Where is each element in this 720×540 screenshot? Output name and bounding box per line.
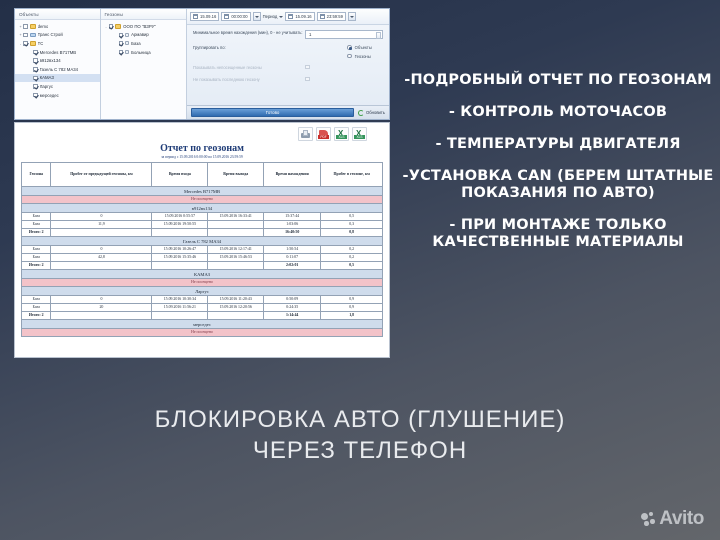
report-column-header: Геозона (22, 163, 51, 187)
geozone-tree-item[interactable]: Армавир (101, 31, 186, 40)
hide-last-setting-row: Не показывать последнюю геозону (193, 77, 383, 83)
min-stay-label: Минимальное время нахождения (мин), 0 - … (193, 30, 305, 36)
report-data-row: База2015.09.2016 11:56:2115.09.2016 12:2… (22, 304, 383, 312)
objects-panel: Объекты +demo+Транс Строй-ТСMercedes B71… (15, 9, 101, 119)
report-total-cell-exit (208, 312, 264, 320)
radio-option-objects[interactable]: Объекты (347, 45, 372, 50)
report-cell-zone: База (22, 246, 51, 254)
report-total-cell-zone: Итого: 2 (22, 262, 51, 270)
report-total-cell-duration: 16:40:50 (264, 229, 321, 237)
promo-bullet-list: -ПОДРОБНЫЙ ОТЧЕТ ПО ГЕОЗОНАМ- КОНТРОЛЬ М… (400, 72, 716, 251)
report-cell-mileage-in: 0,5 (321, 213, 383, 221)
report-cell-mileage-prev: 0 (51, 296, 152, 304)
report-column-header: Пробег в геозоне, км (321, 163, 383, 187)
geozone-report-window: X X Отчет по геозонам за период с 15.09.… (14, 122, 390, 358)
checkbox-icon[interactable] (23, 33, 28, 38)
radio-icon (347, 54, 352, 59)
report-total-cell-mileage-prev (51, 312, 152, 320)
promo-bullet: - ТЕМПЕРАТУРЫ ДВИГАТЕЛЯ (400, 136, 716, 153)
report-group-row: в912вх134 (22, 204, 383, 213)
report-cell-zone: База (22, 213, 51, 221)
date-to-field[interactable]: 15.09.16 (285, 12, 314, 21)
report-cell-mileage-prev: 11,9 (51, 221, 152, 229)
object-tree-item-label: Транс Строй (38, 32, 63, 37)
report-cell-mileage-prev: 20 (51, 304, 152, 312)
date-range-toolbar: 15.09.16 00:00:00 Период 15.09.16 23:59:… (187, 9, 389, 25)
folder-blue-icon (30, 33, 36, 38)
report-total-cell-exit (208, 262, 264, 270)
promo-bullet: - КОНТРОЛЬ МОТОЧАСОВ (400, 104, 716, 121)
print-icon[interactable] (298, 127, 313, 141)
object-tree-item-label: Ларгус (40, 84, 53, 89)
refresh-button-label: Обновить (366, 110, 385, 115)
checkbox-icon[interactable] (33, 93, 38, 98)
report-no-visit-row: Не посещено (22, 329, 383, 337)
export-toolbar: X X (21, 127, 383, 141)
object-tree-item-label: demo (38, 24, 49, 29)
radio-option-geozones[interactable]: Геозоны (347, 54, 372, 59)
geozone-report-table: ГеозонаПробег от предыдущей геозоны, кмВ… (21, 162, 383, 337)
object-tree-item-label: Mercedes B717MB (40, 50, 77, 55)
object-tree-item[interactable]: Mercedes B717MB (15, 48, 100, 57)
objects-panel-header: Объекты (15, 9, 100, 20)
report-group-row: мерседес (22, 320, 383, 329)
avito-logo-icon (641, 512, 656, 526)
group-by-label: Группировать по: (193, 45, 305, 51)
geozone-icon (125, 50, 129, 54)
report-cell-enter: 15.09.2016 15:35:46 (152, 254, 208, 262)
report-total-row: Итого: 22:02:010,5 (22, 262, 383, 270)
report-total-row: Итого: 216:40:500,8 (22, 229, 383, 237)
geozone-tree-item[interactable]: -ООО ПО "ВЗРУ" (101, 22, 186, 31)
calendar-icon (193, 14, 198, 19)
geozone-tree-item-label: Армавир (131, 32, 149, 37)
object-tree-item[interactable]: Ларгус (15, 82, 100, 91)
min-stay-setting-row: Минимальное время нахождения (мин), 0 - … (193, 30, 383, 39)
report-total-cell-duration: 1:14:44 (264, 312, 321, 320)
group-by-radio-group: Объекты Геозоны (347, 45, 372, 59)
report-group-name: КАМАЗ (22, 270, 383, 279)
object-tree-item[interactable]: Газель С 782 МА34 (15, 65, 100, 74)
report-total-cell-mileage-prev (51, 262, 152, 270)
clock-icon (320, 14, 325, 19)
object-tree-item[interactable]: мерседес (15, 91, 100, 100)
report-cell-enter: 15.09.2016 19:50:55 (152, 221, 208, 229)
object-tree-item-label: Газель С 782 МА34 (40, 67, 78, 72)
checkbox-icon[interactable] (33, 67, 38, 72)
checkbox-icon[interactable] (119, 41, 124, 46)
report-cell-mileage-in: 0,2 (321, 254, 383, 262)
refresh-icon (358, 110, 364, 116)
report-header-row: ГеозонаПробег от предыдущей геозоны, кмВ… (22, 163, 383, 187)
report-cell-zone: База (22, 221, 51, 229)
object-tree-item[interactable]: в912вх134 (15, 56, 100, 65)
report-cell-zone: База (22, 254, 51, 262)
checkbox-icon[interactable] (33, 50, 38, 55)
min-stay-stepper[interactable]: 1 (305, 30, 383, 39)
report-column-header: Время нахождения (264, 163, 321, 187)
period-selector[interactable]: Период (263, 14, 284, 19)
report-group-name: Mercedes B717MB (22, 187, 383, 196)
refresh-button[interactable]: Обновить (358, 110, 385, 116)
excel-x-glyph: X (356, 129, 361, 138)
report-total-cell-zone: Итого: 2 (22, 312, 51, 320)
report-total-cell-enter (152, 312, 208, 320)
clock-icon (224, 14, 229, 19)
checkbox-icon[interactable] (23, 24, 28, 29)
folder-icon (30, 24, 36, 29)
report-column-header: Время выхода (208, 163, 264, 187)
excel-x-glyph: X (338, 129, 343, 138)
radio-option-geozones-label: Геозоны (355, 54, 371, 59)
report-cell-mileage-in: 0,9 (321, 296, 383, 304)
settings-body: Минимальное время нахождения (мин), 0 - … (187, 25, 389, 105)
xlsx-export-icon[interactable]: X (352, 127, 367, 141)
report-subtitle: за период с 15.09.2016 0:00:00 по 15.09.… (21, 155, 383, 159)
date-from-value: 15.09.16 (200, 14, 216, 19)
report-cell-duration: 0:24:35 (264, 304, 321, 312)
report-total-cell-enter (152, 229, 208, 237)
time-to-value: 23:59:59 (327, 14, 343, 19)
xls-export-icon[interactable]: X (334, 127, 349, 141)
report-no-visit-text: Не посещено (22, 329, 383, 337)
report-column-header: Время входа (152, 163, 208, 187)
app-footer: Готово Обновить (187, 105, 389, 119)
checkbox-icon[interactable] (33, 84, 38, 89)
chevron-down-icon (279, 16, 283, 18)
report-no-visit-text: Не посещено (22, 196, 383, 204)
geozone-tree-item-label: ООО ПО "ВЗРУ" (123, 24, 156, 29)
report-group-row: КАМАЗ (22, 270, 383, 279)
report-total-cell-mileage-in: 1,8 (321, 312, 383, 320)
report-column-header: Пробег от предыдущей геозоны, км (51, 163, 152, 187)
geozone-tree-item[interactable]: Больница (101, 48, 186, 57)
checkbox-icon[interactable] (33, 58, 38, 63)
report-total-cell-zone: Итого: 2 (22, 229, 51, 237)
report-no-visit-row: Не посещено (22, 279, 383, 287)
object-tree-item[interactable]: -ТС (15, 39, 100, 48)
report-cell-mileage-prev: 42,8 (51, 254, 152, 262)
gps-tracking-app-window: Объекты +demo+Транс Строй-ТСMercedes B71… (14, 8, 390, 120)
time-to-dropdown-button[interactable] (348, 12, 356, 21)
report-cell-mileage-prev: 0 (51, 246, 152, 254)
folder-icon (115, 24, 121, 29)
report-cell-enter: 15.09.2016 11:56:21 (152, 304, 208, 312)
radio-option-objects-label: Объекты (355, 45, 372, 50)
report-data-row: База015.09.2016 10:30:3415.09.2016 11:20… (22, 296, 383, 304)
geozone-icon (125, 41, 129, 45)
report-data-row: База11,915.09.2016 19:50:551:03:060,3 (22, 221, 383, 229)
report-table-head: ГеозонаПробег от предыдущей геозоны, кмВ… (22, 163, 383, 187)
geozones-panel: Геозоны -ООО ПО "ВЗРУ"АрмавирБазаБольниц… (101, 9, 187, 119)
report-group-row: Mercedes B717MB (22, 187, 383, 196)
avito-watermark-label: Avito (659, 508, 704, 530)
checkbox-icon[interactable] (109, 24, 114, 29)
time-from-field[interactable]: 00:00:00 (221, 12, 250, 21)
report-cell-zone: База (22, 304, 51, 312)
report-total-cell-enter (152, 262, 208, 270)
checkbox-icon[interactable] (119, 50, 124, 55)
report-data-row: База42,815.09.2016 15:35:4615.09.2016 15… (22, 254, 383, 262)
stepper-arrows-icon[interactable] (376, 32, 381, 39)
group-by-setting-row: Группировать по: Объекты Геозоны (193, 45, 383, 59)
report-cell-exit: 15.09.2016 12:20:56 (208, 304, 264, 312)
report-cell-exit: 15.09.2016 16:33:41 (208, 213, 264, 221)
date-to-value: 15.09.16 (295, 14, 311, 19)
geozone-icon (125, 33, 129, 37)
report-group-name: в912вх134 (22, 204, 383, 213)
report-cell-enter: 15.09.2016 10:30:34 (152, 296, 208, 304)
report-group-row: Ларгус (22, 287, 383, 296)
date-from-field[interactable]: 15.09.16 (190, 12, 219, 21)
object-tree-item[interactable]: КАМАЗ (15, 74, 100, 83)
promo-caption-line-2: ЧЕРЕЗ ТЕЛЕФОН (60, 435, 660, 466)
period-label: Период (263, 14, 278, 19)
chevron-down-icon (255, 16, 259, 18)
promo-bullet: - ПРИ МОНТАЖЕ ТОЛЬКО КАЧЕСТВЕННЫЕ МАТЕРИ… (400, 217, 716, 251)
report-group-name: мерседес (22, 320, 383, 329)
time-from-dropdown-button[interactable] (253, 12, 261, 21)
report-data-row: База015.09.2016 0:55:5715.09.2016 16:33:… (22, 213, 383, 221)
report-table-body: Mercedes B717MBНе посещенов912вх134База0… (22, 187, 383, 337)
hide-last-checkbox[interactable] (305, 77, 310, 82)
report-total-cell-mileage-in: 0,5 (321, 262, 383, 270)
folder-icon (30, 41, 36, 46)
object-tree-item-label: КАМАЗ (40, 75, 54, 80)
object-tree-item-label: мерседес (40, 93, 59, 98)
show-unvisited-checkbox[interactable] (305, 65, 310, 70)
geozones-panel-header: Геозоны (101, 9, 186, 20)
radio-icon (347, 45, 352, 50)
geozone-tree-item-label: База (131, 41, 141, 46)
report-cell-duration: 1:50:54 (264, 246, 321, 254)
avito-watermark: Avito (641, 508, 704, 530)
show-unvisited-label: Показывать непосещенные геозоны (193, 65, 305, 71)
objects-tree[interactable]: +demo+Транс Строй-ТСMercedes B717MBв912в… (15, 20, 100, 119)
hide-last-label: Не показывать последнюю геозону (193, 77, 305, 83)
done-button[interactable]: Готово (191, 108, 354, 117)
report-cell-duration: 15:37:44 (264, 213, 321, 221)
report-cell-duration: 0:11:07 (264, 254, 321, 262)
report-total-row: Итого: 21:14:441,8 (22, 312, 383, 320)
report-cell-mileage-in: 0,9 (321, 304, 383, 312)
object-tree-item[interactable]: +demo (15, 22, 100, 31)
report-cell-mileage-in: 0,2 (321, 246, 383, 254)
report-title: Отчет по геозонам (21, 143, 383, 154)
report-cell-mileage-in: 0,3 (321, 221, 383, 229)
promo-bullet: -УСТАНОВКА CAN (БЕРЕМ ШТАТНЫЕ ПОКАЗАНИЯ … (400, 168, 716, 202)
report-cell-duration: 1:03:06 (264, 221, 321, 229)
report-group-name: Газель С 782 МА34 (22, 237, 383, 246)
report-cell-exit: 15.09.2016 12:17:41 (208, 246, 264, 254)
report-cell-exit: 15.09.2016 15:46:53 (208, 254, 264, 262)
report-cell-duration: 0:50:09 (264, 296, 321, 304)
object-tree-item[interactable]: +Транс Строй (15, 31, 100, 40)
report-cell-exit (208, 221, 264, 229)
show-unvisited-setting-row: Показывать непосещенные геозоны (193, 65, 383, 71)
geozones-tree[interactable]: -ООО ПО "ВЗРУ"АрмавирБазаБольница (101, 20, 186, 119)
pdf-export-icon[interactable] (316, 127, 331, 141)
report-total-cell-duration: 2:02:01 (264, 262, 321, 270)
report-cell-enter: 15.09.2016 0:55:57 (152, 213, 208, 221)
report-total-cell-mileage-prev (51, 229, 152, 237)
geozone-tree-item-label: Больница (131, 50, 151, 55)
report-group-row: Газель С 782 МА34 (22, 237, 383, 246)
time-to-field[interactable]: 23:59:59 (317, 12, 346, 21)
chevron-down-icon (350, 16, 354, 18)
promo-bullet: -ПОДРОБНЫЙ ОТЧЕТ ПО ГЕОЗОНАМ (400, 72, 716, 89)
report-total-cell-mileage-in: 0,8 (321, 229, 383, 237)
report-no-visit-text: Не посещено (22, 279, 383, 287)
report-cell-mileage-prev: 0 (51, 213, 152, 221)
checkbox-icon[interactable] (119, 33, 124, 38)
geozone-tree-item[interactable]: База (101, 39, 186, 48)
checkbox-icon[interactable] (33, 76, 38, 81)
report-cell-enter: 15.09.2016 10:26:47 (152, 246, 208, 254)
calendar-icon (288, 14, 293, 19)
report-data-row: База015.09.2016 10:26:4715.09.2016 12:17… (22, 246, 383, 254)
report-cell-zone: База (22, 296, 51, 304)
time-from-value: 00:00:00 (231, 14, 247, 19)
report-group-name: Ларгус (22, 287, 383, 296)
report-no-visit-row: Не посещено (22, 196, 383, 204)
checkbox-icon[interactable] (23, 41, 28, 46)
report-settings-panel: 15.09.16 00:00:00 Период 15.09.16 23:59:… (187, 9, 389, 119)
report-cell-exit: 15.09.2016 11:20:43 (208, 296, 264, 304)
promo-caption-line-1: БЛОКИРОВКА АВТО (ГЛУШЕНИЕ) (60, 404, 660, 435)
object-tree-item-label: в912вх134 (40, 58, 61, 63)
report-total-cell-exit (208, 229, 264, 237)
object-tree-item-label: ТС (38, 41, 44, 46)
min-stay-value: 1 (309, 32, 311, 37)
promo-caption: БЛОКИРОВКА АВТО (ГЛУШЕНИЕ) ЧЕРЕЗ ТЕЛЕФОН (60, 404, 660, 466)
